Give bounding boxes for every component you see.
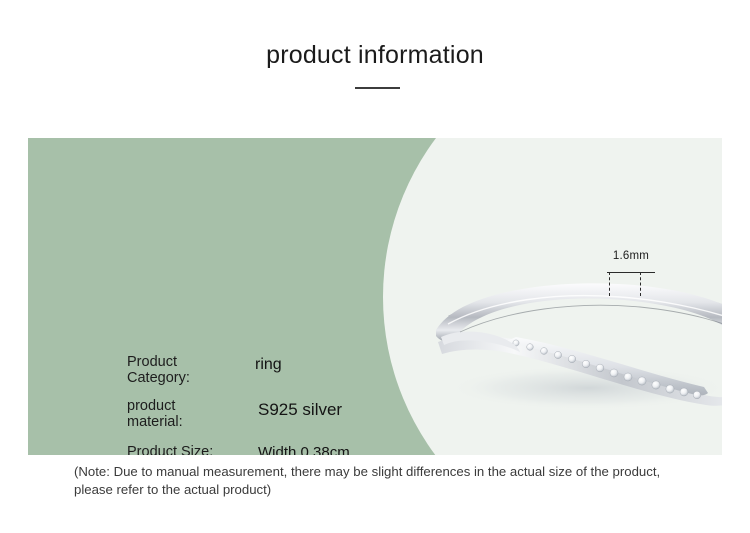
dimension-callout: 1.6mm [576,250,686,310]
dimension-tick-left [609,272,610,296]
spec-value-size: Width 0.38cm [258,444,350,455]
measurement-note: (Note: Due to manual measurement, there … [74,463,684,499]
product-info-panel: Product Category: ring product material:… [28,138,722,455]
dimension-bar [607,272,655,273]
dimension-label: 1.6mm [576,250,686,262]
dimension-tick-right [640,272,641,296]
spec-label-category: Product Category: [127,354,247,386]
spec-label-material: product material: [127,398,247,430]
page-title: product information [0,41,750,70]
spec-label-size: Product Size: [127,444,247,455]
title-underline-rule [355,87,400,89]
spec-value-category: ring [255,356,282,373]
spec-value-material: S925 silver [258,401,342,418]
